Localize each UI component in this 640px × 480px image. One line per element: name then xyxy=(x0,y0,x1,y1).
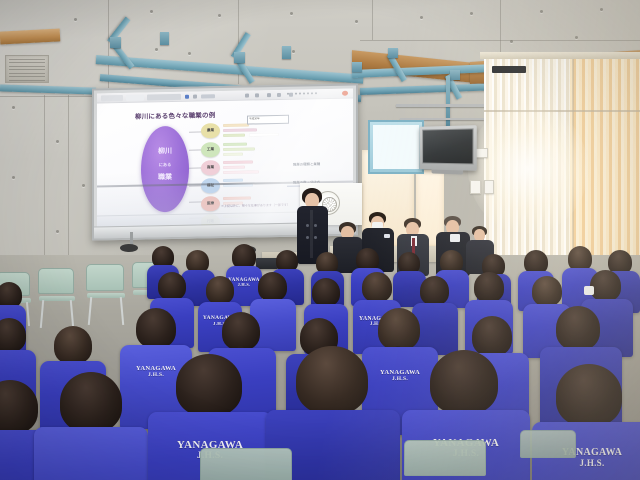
beam-bracket xyxy=(234,52,245,63)
name-tag xyxy=(384,234,390,238)
slide-title: 柳川にある色々な職業の例 xyxy=(135,109,215,121)
screen-caster xyxy=(120,244,138,252)
tie-bolt xyxy=(150,10,153,13)
tie-bolt xyxy=(12,176,15,179)
tie-bolt xyxy=(510,40,513,43)
tie-bolt xyxy=(74,18,77,21)
dress-shirt xyxy=(450,234,460,242)
curtain-rail xyxy=(480,52,640,59)
classroom-assembly-photo: 柳川にある色々な職業の例 柳川 にある 職業 農業 工業 商業 福祉 xyxy=(0,0,640,480)
mindmap-node: 商業 xyxy=(201,160,220,175)
tie-bolt xyxy=(355,20,358,23)
window-wall xyxy=(484,58,640,263)
toolbar-slide-counter xyxy=(201,94,215,98)
beam-bracket xyxy=(110,37,121,48)
leaf-chip xyxy=(223,134,245,138)
mindmap-node: 医療 xyxy=(201,196,220,211)
leaf-chip xyxy=(249,133,279,137)
toolbar-grid-icon[interactable] xyxy=(267,93,271,97)
slide-footnote: ※上記以外に、様々な仕事があります（一部です） xyxy=(221,203,290,208)
window-frame xyxy=(572,58,574,263)
core-line-1: 柳川 xyxy=(141,148,189,158)
legend-header: 平成30年 xyxy=(249,116,260,120)
toolbar-prev-icon[interactable] xyxy=(245,94,249,98)
app-tab[interactable] xyxy=(101,94,123,100)
jersey-line-2: J.H.S. xyxy=(532,459,640,468)
tv-hanger xyxy=(446,76,450,128)
jersey-line-2: J.H.S. xyxy=(362,377,438,383)
ceiling-monitor[interactable] xyxy=(419,125,476,171)
leaf-chip xyxy=(223,170,259,174)
mindmap-node: 工業 xyxy=(201,142,220,157)
panel-joint xyxy=(372,0,373,40)
app-tab[interactable] xyxy=(126,94,144,100)
coat-button xyxy=(314,236,317,239)
tie-bolt xyxy=(155,48,158,51)
core-line-2: にある xyxy=(141,162,189,168)
curtain-sunlit xyxy=(570,58,640,263)
leaf-chip xyxy=(223,166,245,170)
beam-bracket xyxy=(160,32,169,45)
leaf-chip xyxy=(223,147,255,151)
tie-bolt xyxy=(292,50,295,53)
tie-bolt xyxy=(188,52,191,55)
mindmap-core-node: 柳川 にある 職業 xyxy=(141,126,189,213)
leaf-chip xyxy=(223,124,249,128)
window-frame xyxy=(484,110,640,112)
tie-bolt xyxy=(420,16,423,19)
leaf-chip xyxy=(223,160,253,164)
coat-button xyxy=(306,224,309,227)
tie-bolt xyxy=(575,36,578,39)
tie-bolt xyxy=(56,230,59,233)
tie-bolt xyxy=(290,12,293,15)
toolbar-next-icon[interactable] xyxy=(255,93,259,97)
panel-joint xyxy=(360,40,640,41)
tie-bolt xyxy=(82,184,85,187)
coat-placket xyxy=(310,210,313,258)
leaf-chip xyxy=(223,143,247,147)
side-note: 職業の種類と業種 xyxy=(293,161,320,167)
core-line-3: 職業 xyxy=(141,174,189,184)
folding-chair-back[interactable] xyxy=(520,430,576,458)
tie-bolt xyxy=(56,140,59,143)
coat-button xyxy=(306,236,309,239)
curtain-sheer xyxy=(484,58,570,263)
beam-bracket xyxy=(352,62,362,72)
leaf-chip xyxy=(223,197,251,201)
laptop[interactable] xyxy=(256,258,278,269)
tie-bolt xyxy=(218,14,221,17)
beam-bracket xyxy=(450,70,460,80)
leaf-chip xyxy=(223,153,243,157)
toolbar-fullscreen-icon[interactable] xyxy=(289,93,293,97)
monitor-screen xyxy=(422,128,473,164)
leaf-chip xyxy=(223,128,257,132)
panel-joint xyxy=(44,95,45,255)
panel-joint xyxy=(68,95,69,255)
toolbar-play-icon[interactable] xyxy=(185,95,189,99)
face-mask xyxy=(584,286,594,295)
tie-bolt xyxy=(540,10,543,13)
tie-bolt xyxy=(470,12,473,15)
wall-vent xyxy=(5,55,49,83)
wall-notice xyxy=(470,180,481,194)
folding-chair-back[interactable] xyxy=(404,440,486,476)
tie-bolt xyxy=(12,106,15,109)
coat-button xyxy=(314,224,317,227)
wall-notice xyxy=(484,180,494,194)
tie-bolt xyxy=(600,8,603,11)
mindmap-node: 福祉 xyxy=(201,178,220,193)
window-glass xyxy=(373,125,419,169)
mindmap-node: 農業 xyxy=(201,123,220,138)
panel-joint xyxy=(0,96,92,97)
panel-joint xyxy=(500,0,501,60)
beam-bracket xyxy=(388,48,398,58)
app-tab[interactable] xyxy=(147,93,181,100)
curtain-rail-bracket xyxy=(492,66,526,73)
toolbar-more-icon[interactable] xyxy=(277,93,281,97)
folding-chair-back[interactable] xyxy=(200,448,292,480)
tv-support-rail xyxy=(396,104,488,107)
beam-bracket xyxy=(282,46,291,59)
window-blue-frame xyxy=(368,120,424,174)
toolbar-pen-icon[interactable] xyxy=(193,95,197,99)
